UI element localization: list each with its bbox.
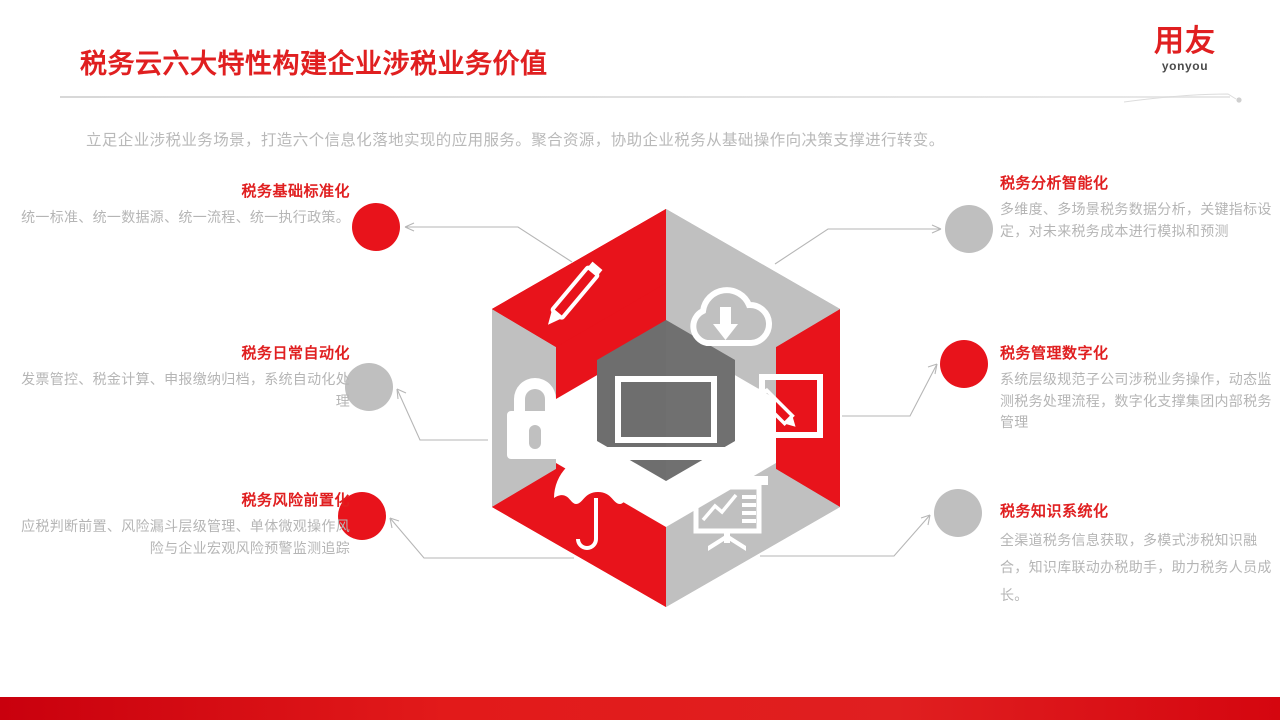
feature-body: 应税判断前置、风险漏斗层级管理、单体微观操作风险与企业宏观风险预警监测追踪 bbox=[8, 516, 350, 559]
feature-tax-daily-automation[interactable]: 税务日常自动化 发票管控、税金计算、申报缴纳归档，系统自动化处理 bbox=[10, 342, 350, 412]
feature-title: 税务日常自动化 bbox=[10, 342, 350, 363]
feature-tax-knowledge-system[interactable]: 税务知识系统化 全渠道税务信息获取，多模式涉税知识融合，知识库联动办税助手，助力… bbox=[1000, 500, 1278, 609]
slide-canvas: 税务云六大特性构建企业涉税业务价值 用友 yonyou 立足企业涉税业务场景，打… bbox=[0, 0, 1280, 720]
footer-band bbox=[0, 697, 1280, 720]
feature-title: 税务管理数字化 bbox=[1000, 342, 1278, 363]
feature-tax-management-digital[interactable]: 税务管理数字化 系统层级规范子公司涉税业务操作，动态监测税务处理流程，数字化支撑… bbox=[1000, 342, 1278, 434]
feature-body: 全渠道税务信息获取，多模式涉税知识融合，知识库联动办税助手，助力税务人员成长。 bbox=[1000, 527, 1278, 609]
feature-title: 税务基础标准化 bbox=[20, 180, 350, 201]
feature-title: 税务风险前置化 bbox=[8, 489, 350, 510]
feature-tax-analysis-intelligence[interactable]: 税务分析智能化 多维度、多场景税务数据分析，关键指标设定，对未来税务成本进行模拟… bbox=[1000, 172, 1278, 242]
bullet-dot-tax-knowledge-system[interactable] bbox=[934, 489, 982, 537]
feature-title: 税务知识系统化 bbox=[1000, 500, 1278, 521]
hexagon-diagram bbox=[470, 195, 862, 607]
feature-body: 系统层级规范子公司涉税业务操作，动态监测税务处理流程，数字化支撑集团内部税务管理 bbox=[1000, 369, 1278, 434]
feature-body: 统一标准、统一数据源、统一流程、统一执行政策。 bbox=[20, 207, 350, 229]
bullet-dot-tax-analysis-intelligence[interactable] bbox=[945, 205, 993, 253]
bullet-dot-tax-management-digital[interactable] bbox=[940, 340, 988, 388]
feature-body: 发票管控、税金计算、申报缴纳归档，系统自动化处理 bbox=[10, 369, 350, 412]
feature-tax-standardization[interactable]: 税务基础标准化 统一标准、统一数据源、统一流程、统一执行政策。 bbox=[20, 180, 350, 229]
feature-title: 税务分析智能化 bbox=[1000, 172, 1278, 193]
feature-body: 多维度、多场景税务数据分析，关键指标设定，对未来税务成本进行模拟和预测 bbox=[1000, 199, 1278, 242]
feature-tax-risk-prevention[interactable]: 税务风险前置化 应税判断前置、风险漏斗层级管理、单体微观操作风险与企业宏观风险预… bbox=[8, 489, 350, 559]
bullet-dot-tax-daily-automation[interactable] bbox=[345, 363, 393, 411]
bullet-dot-tax-standardization[interactable] bbox=[352, 203, 400, 251]
